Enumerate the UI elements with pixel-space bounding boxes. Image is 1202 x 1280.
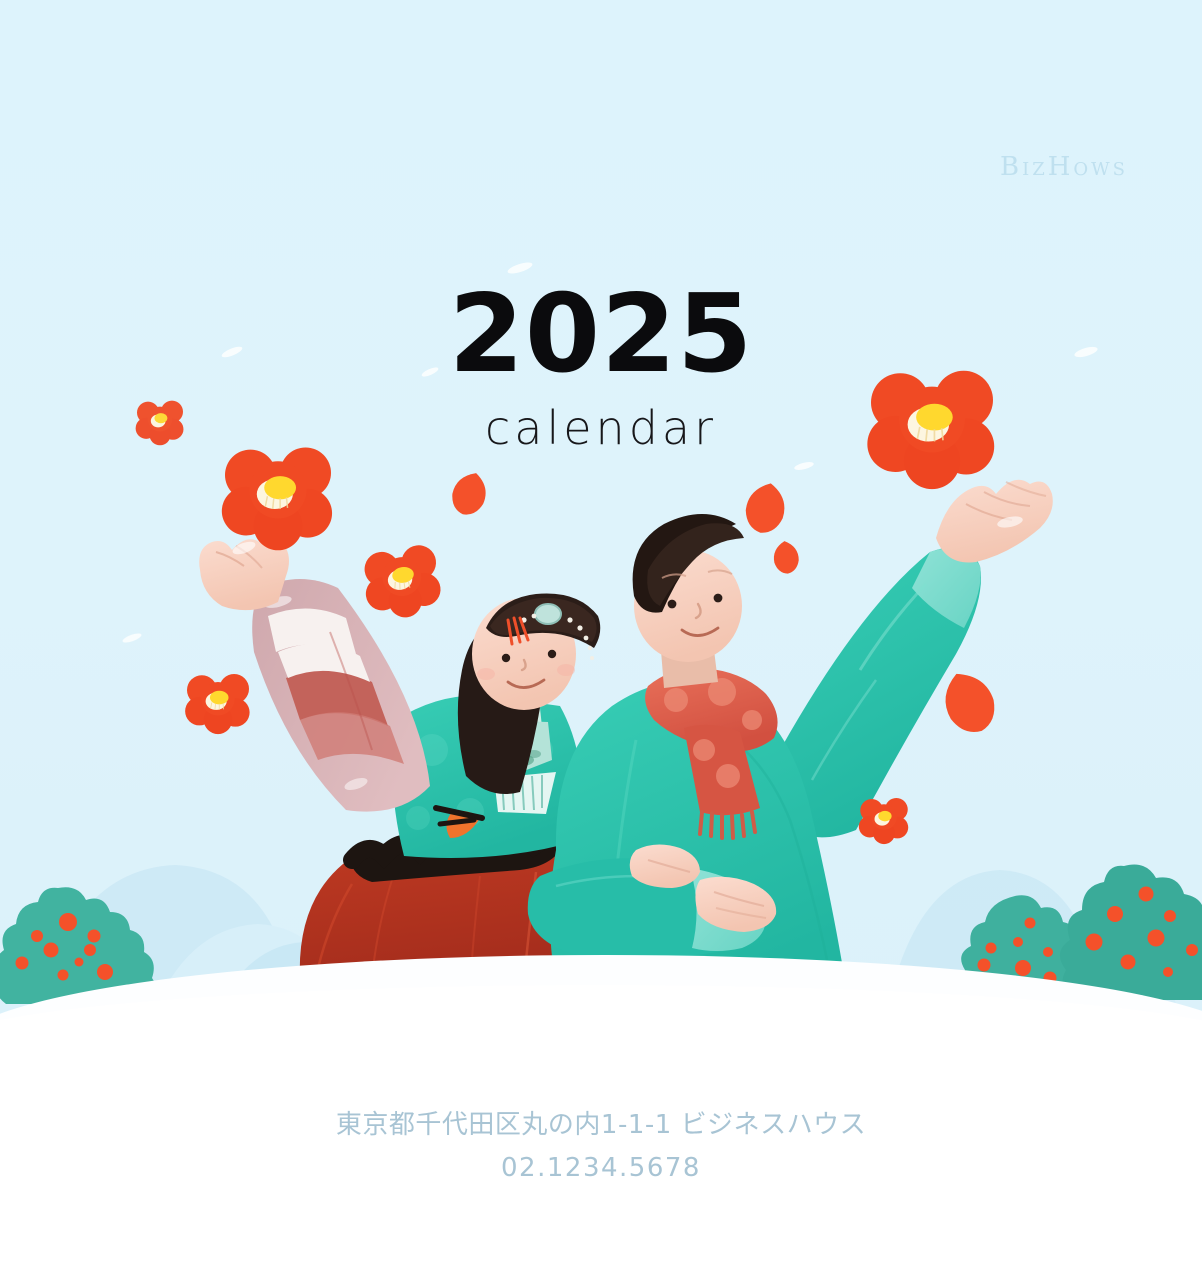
bizhows-logo: BizHows bbox=[1000, 152, 1128, 182]
page-subtitle: calendar bbox=[0, 405, 1202, 451]
company-address: 東京都千代田区丸の内1-1-1 ビジネスハウス bbox=[0, 1104, 1202, 1141]
petal-a bbox=[742, 479, 790, 536]
company-phone: 02.1234.5678 bbox=[0, 1153, 1202, 1183]
camellia-small-right bbox=[859, 798, 908, 844]
camellia-small-left bbox=[185, 674, 249, 734]
footer-contact: 東京都千代田区丸の内1-1-1 ビジネスハウス 02.1234.5678 bbox=[0, 1104, 1202, 1183]
title-block: 2025 calendar bbox=[0, 281, 1202, 451]
camellia-tiny-mid bbox=[447, 468, 491, 519]
camellia-large-left bbox=[222, 447, 332, 550]
petal-c bbox=[935, 664, 1004, 740]
calendar-cover: BizHows 2025 calendar 東京都千代田区丸の内1-1-1 ビジ… bbox=[0, 0, 1202, 1280]
page-title-year: 2025 bbox=[0, 281, 1202, 389]
camellia-mid-left bbox=[360, 543, 444, 623]
petal-b bbox=[772, 540, 800, 575]
